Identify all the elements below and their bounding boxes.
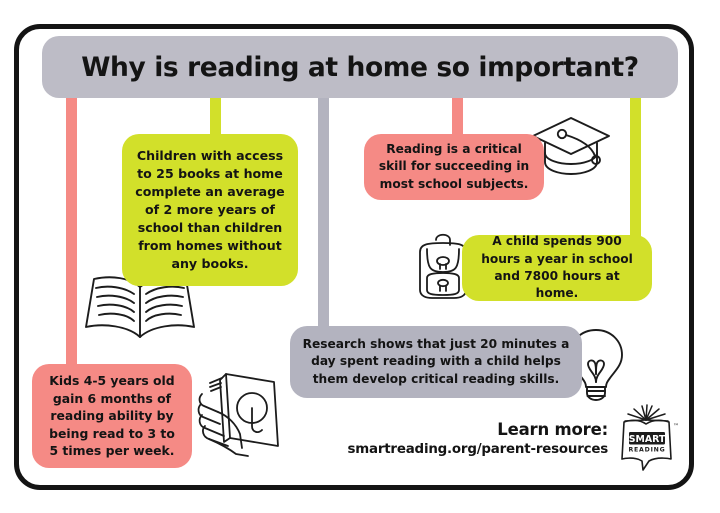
stem-pink-left <box>66 94 77 372</box>
fact-bubble-critical-skill: Reading is a critical skill for succeedi… <box>364 134 544 200</box>
fact-bubble-books: Children with access to 25 books at home… <box>122 134 298 286</box>
hand-holding-book-illustration <box>196 360 292 462</box>
logo-text-smart: SMART <box>629 434 666 445</box>
fact-bubble-research: Research shows that just 20 minutes a da… <box>290 326 582 398</box>
logo-trademark: ™ <box>673 423 679 430</box>
footer: Learn more: smartreading.org/parent-reso… <box>330 420 608 457</box>
title-bar: Why is reading at home so important? <box>42 36 678 98</box>
stem-gray-center <box>318 94 329 332</box>
fact-bubble-hours: A child spends 900 hours a year in schoo… <box>462 235 652 301</box>
footer-url[interactable]: smartreading.org/parent-resources <box>330 442 608 457</box>
stem-green-right <box>630 94 641 242</box>
learn-more-label: Learn more: <box>330 420 608 439</box>
infographic-poster: Why is reading at home so important? <box>0 0 720 513</box>
logo-text-reading: READING <box>628 447 665 454</box>
fact-bubble-kids: Kids 4-5 years old gain 6 months of read… <box>32 364 192 468</box>
smart-reading-logo[interactable]: SMART READING ™ <box>616 404 682 474</box>
page-title: Why is reading at home so important? <box>81 52 639 83</box>
